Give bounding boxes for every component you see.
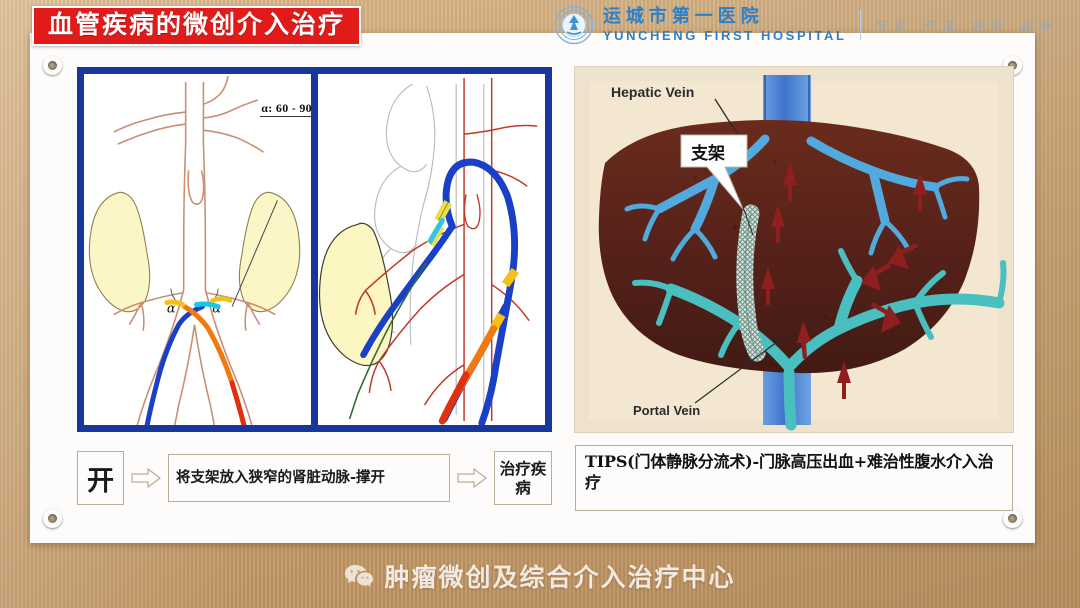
hospital-emblem-icon xyxy=(554,5,594,45)
angle-annotation: α: 60 - 90 xyxy=(260,101,311,117)
slide-title-banner: 血管疾病的微创介入治疗 xyxy=(32,6,361,46)
hospital-name-en: YUNCHENG FIRST HOSPITAL xyxy=(603,29,847,42)
grommet-top-left xyxy=(43,56,62,75)
logo-divider xyxy=(860,10,861,40)
panel-renal-anatomy: α α α: 60 - 90 xyxy=(84,74,311,425)
slide-board: α α α: 60 - 90 xyxy=(30,33,1035,543)
tips-caption: TIPS(门体静脉分流术)-门脉高压出血+难治性腹水介入治疗 xyxy=(575,445,1013,511)
flow-step-open: 开 xyxy=(77,451,124,505)
flow-step-stent: 将支架放入狭窄的肾脏动脉-撑开 xyxy=(168,454,450,502)
stent-callout-label: 支架 xyxy=(691,143,725,164)
watermark-text: 肿瘤微创及综合介入治疗中心 xyxy=(384,558,735,594)
hospital-name-cn: 运城市第一医院 xyxy=(603,8,847,26)
right-arrow-icon xyxy=(131,467,161,489)
hospital-motto: 博爱 严谨 协作 创新 xyxy=(874,17,1058,34)
panel-renal-stent-placement xyxy=(318,74,545,425)
portal-vein-label: Portal Vein xyxy=(633,403,700,418)
channel-watermark: 肿瘤微创及综合介入治疗中心 xyxy=(0,558,1080,594)
right-figure-tips-liver: Hepatic Vein 支架 Portal Vein xyxy=(575,67,1013,432)
process-flow: 开 将支架放入狭窄的肾脏动脉-撑开 治疗疾病 xyxy=(77,445,552,511)
hepatic-vein-label: Hepatic Vein xyxy=(611,84,694,100)
grommet-bottom-right xyxy=(1003,509,1022,528)
flow-step-treat: 治疗疾病 xyxy=(494,451,552,505)
grommet-bottom-left xyxy=(43,509,62,528)
left-figure-renal-stent: α α α: 60 - 90 xyxy=(77,67,552,432)
page-title: 血管疾病的微创介入治疗 xyxy=(48,11,345,39)
wechat-icon xyxy=(344,563,374,589)
right-arrow-icon-2 xyxy=(457,467,487,489)
hospital-branding: 运城市第一医院 YUNCHENG FIRST HOSPITAL 博爱 严谨 协作… xyxy=(554,5,1058,45)
